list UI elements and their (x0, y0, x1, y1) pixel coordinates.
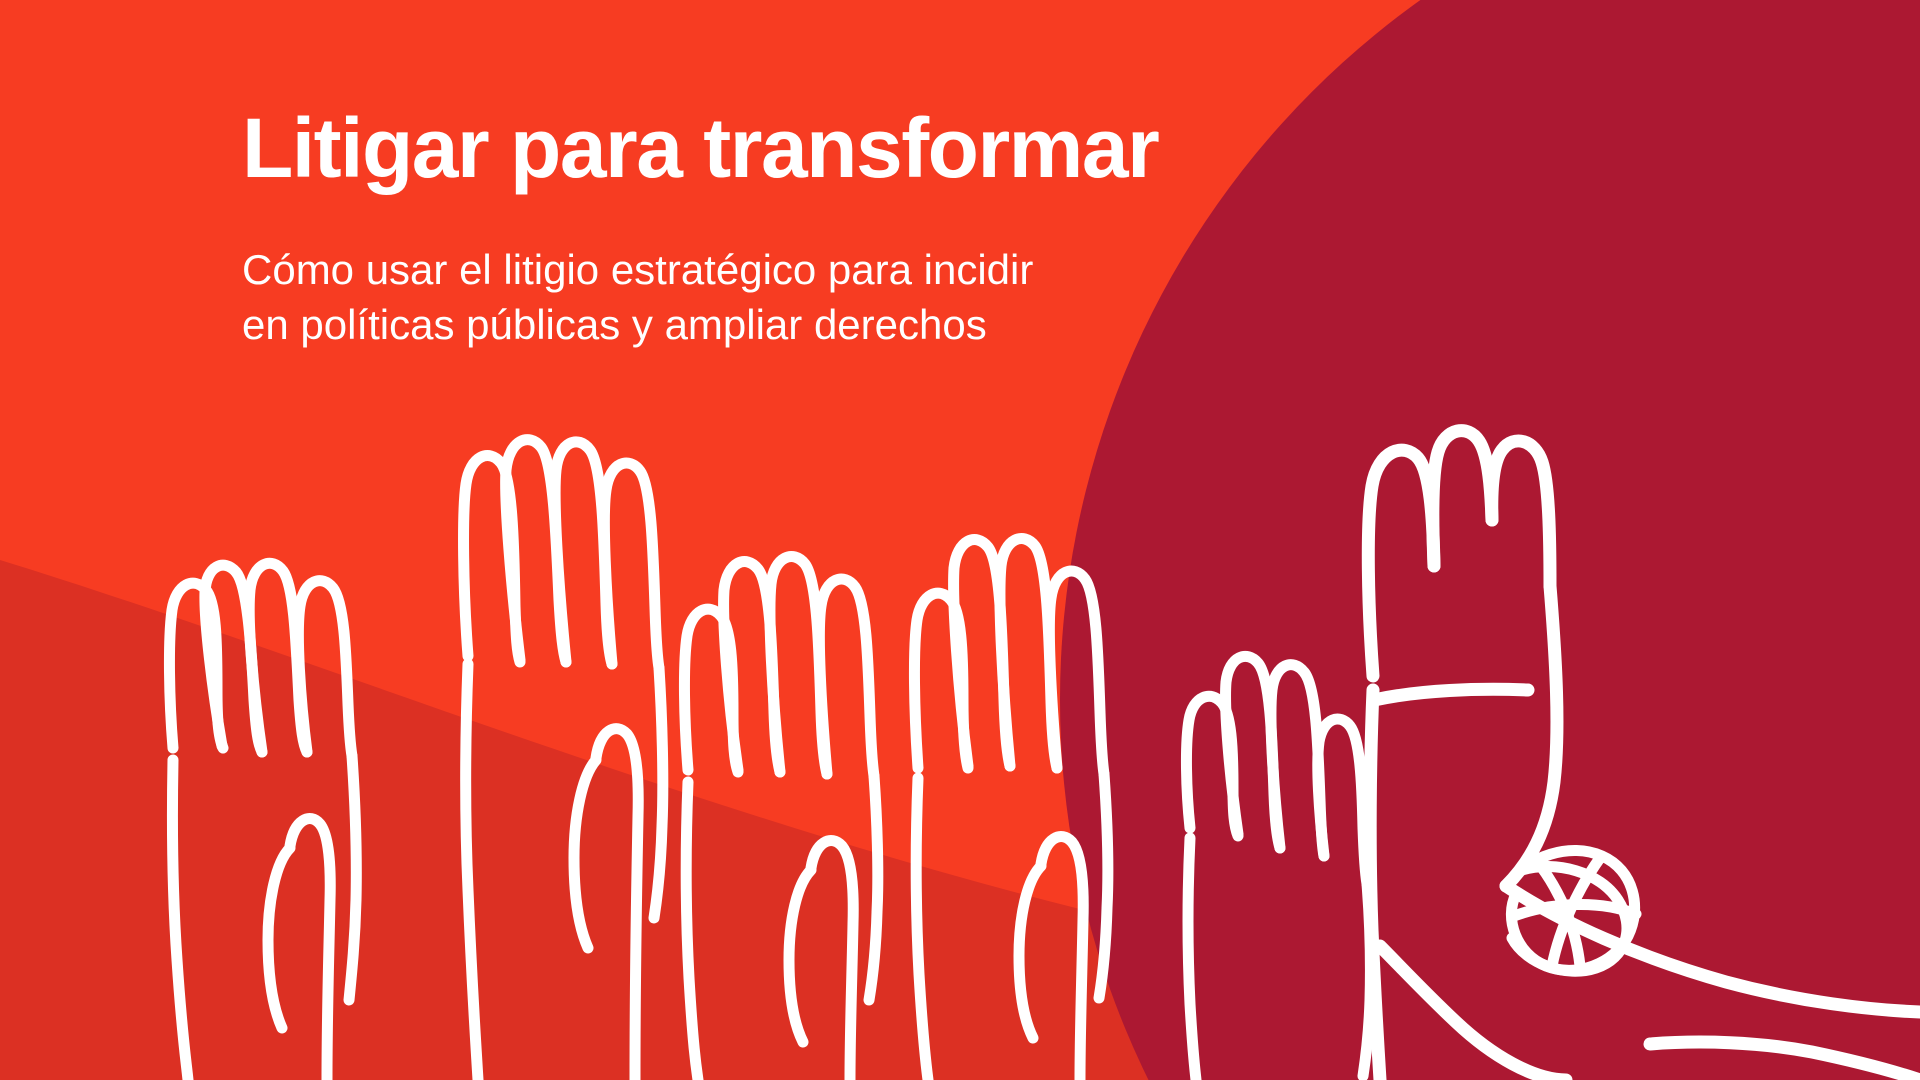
cover-page: Litigar para transformar Cómo usar el li… (0, 0, 1920, 1080)
cover-illustration (0, 0, 1920, 1080)
